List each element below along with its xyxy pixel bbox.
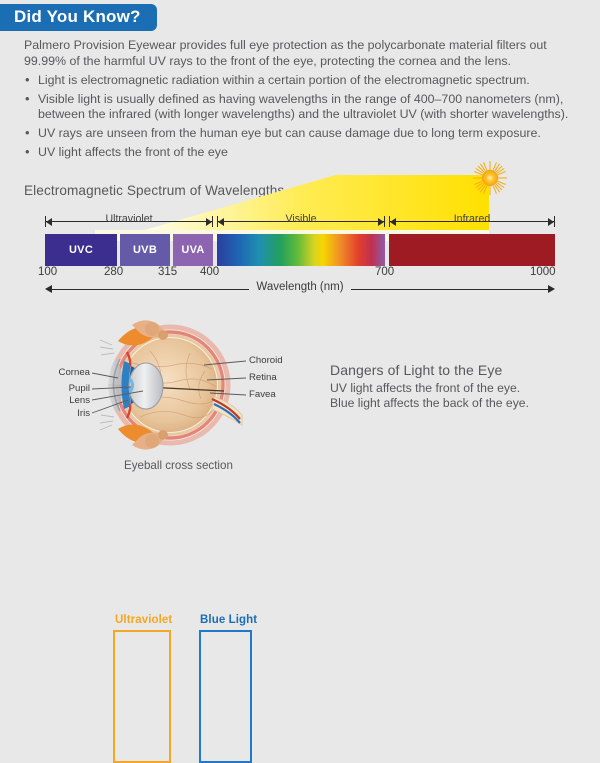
anatomy-label-pupil: Pupil <box>24 383 90 394</box>
dangers-body: UV light affects the front of the eye. B… <box>330 381 529 412</box>
band-label: Infrared <box>449 213 496 225</box>
infographic-root: Did You Know? Palmero Provision Eyewear … <box>0 0 600 490</box>
list-item: Light is electromagnetic radiation withi… <box>24 73 580 89</box>
band-ultraviolet: Ultraviolet <box>45 214 213 229</box>
overlay-label-ultraviolet: Ultraviolet <box>115 614 172 626</box>
intro-bullet-list: Light is electromagnetic radiation withi… <box>24 73 580 160</box>
spectrum-band-row: Ultraviolet Visible Infrared <box>45 214 555 230</box>
segment-infrared <box>389 234 555 266</box>
list-item: UV light affects the front of the eye <box>24 145 580 161</box>
tick-100: 100 <box>38 266 57 278</box>
sun-icon <box>473 161 507 195</box>
band-visible: Visible <box>217 214 385 229</box>
anatomy-label-favea: Favea <box>249 389 276 400</box>
overlay-label-blue-light: Blue Light <box>200 614 257 626</box>
segment-uvc: UVC <box>45 234 117 266</box>
anatomy-label-cornea: Cornea <box>24 367 90 378</box>
anatomy-label-lens: Lens <box>24 395 90 406</box>
segment-uvb: UVB <box>120 234 170 266</box>
overlay-box-ultraviolet <box>113 630 171 763</box>
overlay-box-blue-light <box>199 630 252 763</box>
tick-315: 315 <box>158 266 177 278</box>
spectrum-title: Electromagnetic Spectrum of Wavelengths <box>24 183 284 198</box>
dangers-line-2: Blue light affects the back of the eye. <box>330 396 529 411</box>
eye-diagram-caption: Eyeball cross section <box>124 459 233 472</box>
dangers-heading: Dangers of Light to the Eye <box>330 362 502 378</box>
intro-paragraph: Palmero Provision Eyewear provides full … <box>24 38 580 69</box>
segment-uva: UVA <box>173 234 213 266</box>
list-item: UV rays are unseen from the human eye bu… <box>24 126 580 142</box>
anatomy-label-retina: Retina <box>249 372 277 383</box>
anatomy-label-iris: Iris <box>24 408 90 419</box>
wavelength-axis: Wavelength (nm) <box>45 283 555 297</box>
band-label: Visible <box>280 213 321 225</box>
wavelength-axis-label: Wavelength (nm) <box>249 281 350 293</box>
segment-visible-spectrum <box>217 234 385 266</box>
tick-280: 280 <box>104 266 123 278</box>
wavelength-ticks: 100 280 315 400 700 1000 <box>0 266 600 282</box>
band-label: Ultraviolet <box>100 213 157 225</box>
anatomy-label-choroid: Choroid <box>249 355 283 366</box>
band-infrared: Infrared <box>389 214 555 229</box>
dangers-line-1: UV light affects the front of the eye. <box>330 381 529 396</box>
did-you-know-badge: Did You Know? <box>0 4 157 31</box>
tick-400: 400 <box>200 266 219 278</box>
intro-block: Palmero Provision Eyewear provides full … <box>24 38 580 163</box>
tick-700: 700 <box>375 266 394 278</box>
tick-1000: 1000 <box>530 266 556 278</box>
spectrum-bar: UVC UVB UVA <box>45 234 555 266</box>
list-item: Visible light is usually defined as havi… <box>24 92 580 123</box>
